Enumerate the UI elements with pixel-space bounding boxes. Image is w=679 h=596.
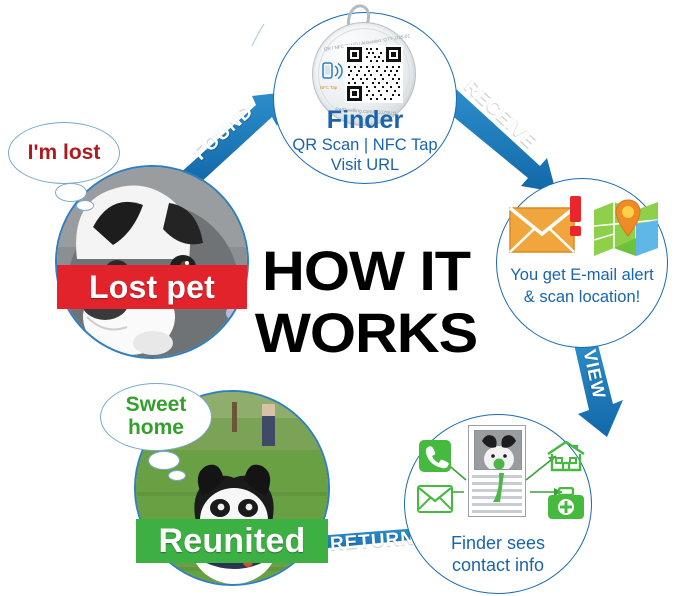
im-lost-text: I'm lost (28, 142, 101, 165)
email-line1: You get E-mail alert (496, 266, 668, 285)
page-title: HOW IT WORKS (245, 244, 487, 360)
sweet-home-bubble: Sweet home (100, 383, 212, 451)
envelope-icon (417, 485, 453, 513)
phone-icon (419, 440, 451, 472)
sweet-home-text: Sweet home (126, 394, 187, 439)
page-title-line2: WORKS (245, 306, 487, 360)
finder-title: Finder (273, 106, 457, 135)
envelope-alert-icon (508, 196, 588, 260)
nfc-tap-icon (321, 61, 347, 85)
house-icon (545, 439, 587, 473)
finder-sub-line1: QR Scan | NFC Tap (273, 136, 457, 155)
finder-sub-line2: Visit URL (273, 156, 457, 175)
lost-pet-banner: Lost pet (57, 265, 247, 309)
bubble-dot-small (168, 470, 186, 481)
page-title-line1: HOW IT (245, 244, 487, 298)
bubble-dot-large (148, 451, 180, 470)
medical-kit-icon (546, 487, 586, 521)
qr-code-icon (345, 45, 403, 103)
tag-nfc-label: NFC Tap (320, 85, 337, 90)
map-pin-icon (592, 196, 664, 260)
contact-line1: Finder sees (404, 533, 592, 554)
reunited-banner: Reunited (136, 519, 328, 563)
email-line2: & scan location! (496, 288, 668, 307)
im-lost-bubble: I'm lost (8, 122, 120, 184)
infographic-how-it-works: FOUND RECEIVE VIEW RETURN HOW IT WORKS Q… (0, 0, 679, 596)
bubble-dot-small (76, 200, 94, 211)
contact-line2: contact info (404, 555, 592, 576)
cycle-guide-arcs (252, 24, 264, 46)
